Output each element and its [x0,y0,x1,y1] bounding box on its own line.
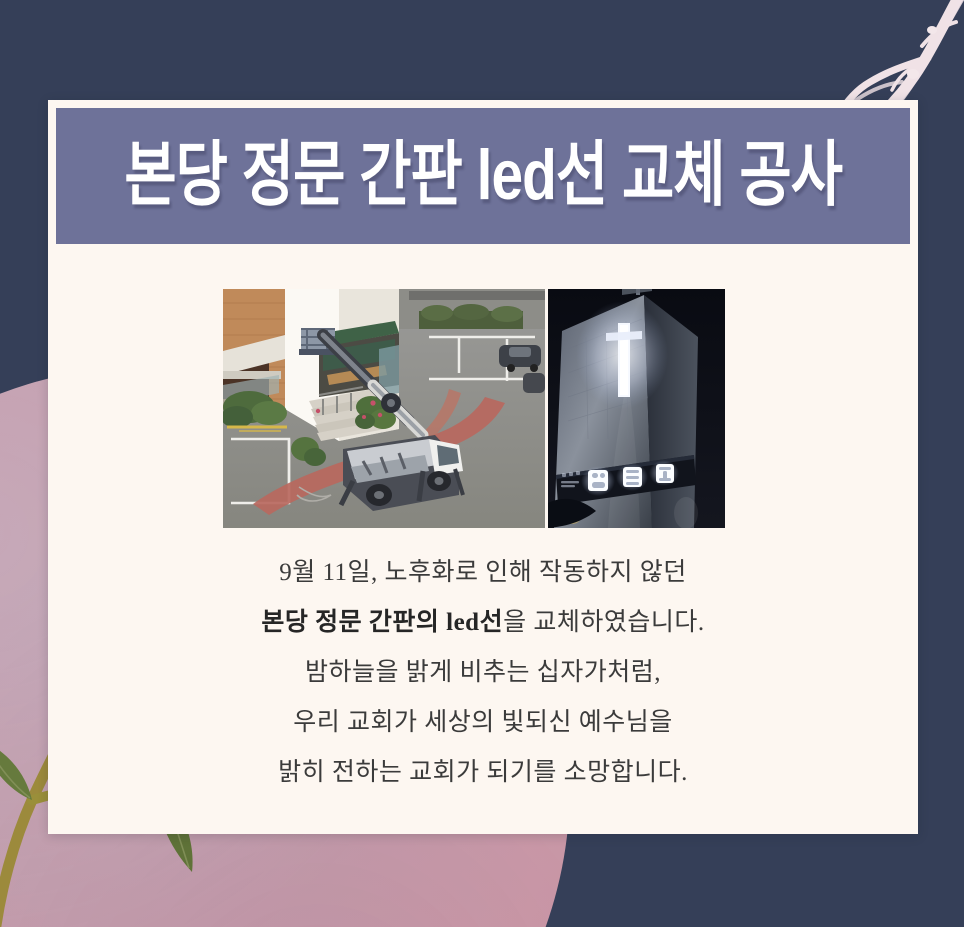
body-line: 본당 정문 간판의 led선을 교체하였습니다. [48,598,918,648]
photo-crane-truck-daytime [223,289,545,528]
body-line: 밝히 전하는 교회가 되기를 소망합니다. [48,748,918,798]
poster-canvas: 본당 정문 간판 led선 교체 공사 [0,0,964,927]
photo-collage [223,289,725,528]
content-card: 본당 정문 간판 led선 교체 공사 [48,100,918,834]
page-title: 본당 정문 간판 led선 교체 공사 [124,141,842,212]
photo-church-sign-night [548,289,725,528]
body-line: 9월 11일, 노후화로 인해 작동하지 않던 [48,548,918,598]
body-line: 밤하늘을 밝게 비추는 십자가처럼, [48,648,918,698]
title-banner: 본당 정문 간판 led선 교체 공사 [56,108,910,244]
body-line: 우리 교회가 세상의 빛되신 예수님을 [48,698,918,748]
body-paragraph: 9월 11일, 노후화로 인해 작동하지 않던 본당 정문 간판의 led선을 … [48,548,918,798]
